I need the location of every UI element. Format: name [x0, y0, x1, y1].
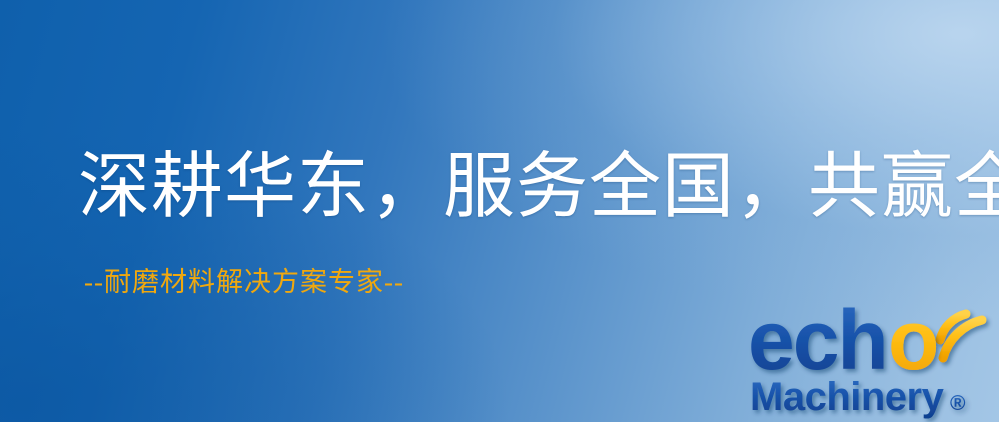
- logo-wordmark-accent-o: o: [888, 293, 939, 387]
- echo-wave-icon: [940, 314, 982, 358]
- banner-headline: 深耕华东，服务全国，共赢全球: [78, 145, 999, 229]
- logo-trademark-symbol: ®: [950, 392, 966, 415]
- promotional-banner: 深耕华东，服务全国，共赢全球 --耐磨材料解决方案专家--: [0, 0, 999, 422]
- echo-machinery-logo: ech o Machinery ®: [744, 292, 999, 422]
- banner-subtitle: --耐磨材料解决方案专家--: [84, 265, 404, 299]
- logo-subname-machinery: Machinery: [750, 375, 945, 419]
- logo-wordmark-echo: ech: [748, 293, 887, 387]
